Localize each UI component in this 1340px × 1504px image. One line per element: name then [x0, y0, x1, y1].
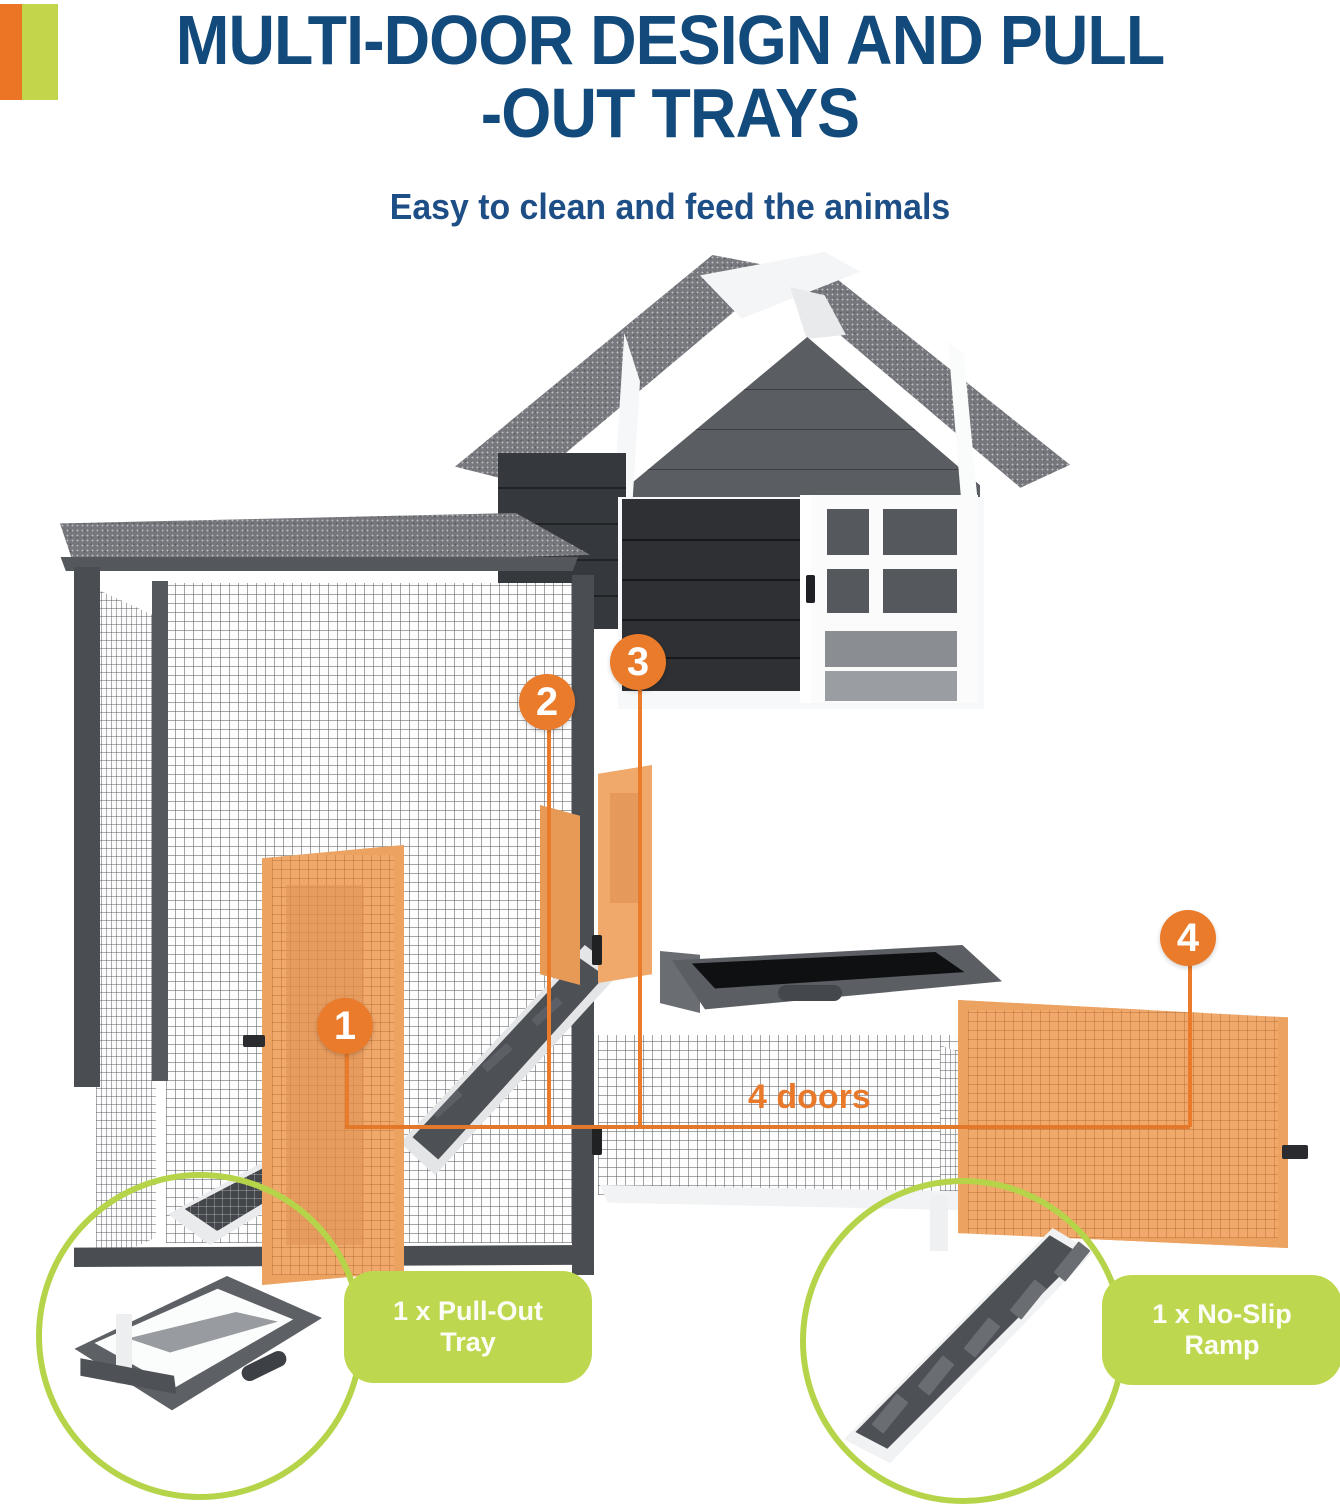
run-corner-post-inner — [152, 581, 168, 1081]
feature-label-line2: Ramp — [1184, 1330, 1259, 1360]
run-side-mesh — [96, 575, 156, 1265]
door-4-handle[interactable] — [1282, 1145, 1308, 1159]
sliding-door[interactable] — [800, 495, 978, 703]
page-title-line2: -OUT TRAYS — [54, 79, 1287, 148]
page-title-line1: MULTI-DOOR DESIGN AND PULL — [54, 6, 1287, 75]
run-corner-post-left — [74, 567, 100, 1087]
feature-label-line1: 1 x Pull-Out — [393, 1296, 543, 1326]
feature-label-no-slip-ramp: 1 x No-Slip Ramp — [1102, 1275, 1340, 1385]
page-title: MULTI-DOOR DESIGN AND PULL -OUT TRAYS — [0, 6, 1340, 147]
header-banner: MULTI-DOOR DESIGN AND PULL -OUT TRAYS Ea… — [0, 0, 1340, 245]
door-3-hinge-bottom — [592, 1125, 602, 1155]
page-subtitle: Easy to clean and feed the animals — [40, 186, 1300, 228]
pull-out-tray-handle[interactable] — [778, 985, 842, 1001]
feature-label-line1: 1 x No-Slip — [1152, 1299, 1292, 1329]
lower-run-mesh — [598, 1035, 958, 1195]
sliding-door-latch[interactable] — [806, 575, 815, 603]
feature-label-line2: Tray — [440, 1327, 496, 1357]
hutch-interior-dark-panel — [622, 499, 822, 691]
feature-label-pull-out-tray: 1 x Pull-Out Tray — [344, 1271, 592, 1383]
door-2-panel[interactable] — [540, 805, 580, 985]
run-roof-edge — [58, 557, 578, 571]
product-illustration — [0, 245, 1340, 1165]
door-1-handle[interactable] — [243, 1035, 265, 1047]
pull-out-tray-thumbnail — [72, 1262, 322, 1427]
door-3-hinge-top — [592, 935, 602, 965]
door-1-shadow — [286, 885, 364, 1245]
door-3-shadow — [610, 793, 642, 903]
no-slip-ramp-thumbnail — [838, 1228, 1128, 1468]
